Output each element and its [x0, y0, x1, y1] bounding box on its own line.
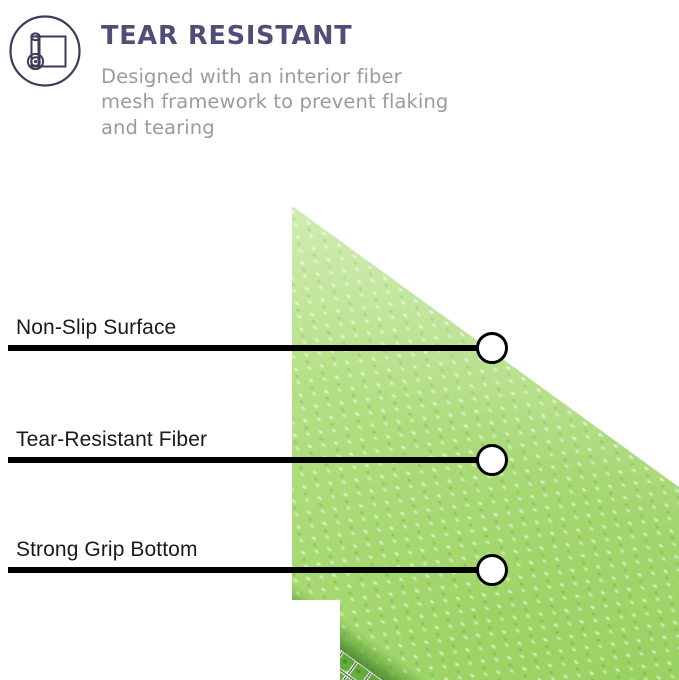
header-text-block: TEAR RESISTANT Designed with an interior… [101, 24, 521, 141]
mat-roll-icon [8, 14, 82, 88]
product-feature-infographic: TEAR RESISTANT Designed with an interior… [0, 0, 679, 680]
callout-label-strong-grip-bottom: Strong Grip Bottom [16, 538, 198, 562]
callout-dot-strong-grip-bottom [476, 554, 508, 586]
page-title: TEAR RESISTANT [101, 24, 521, 50]
header: TEAR RESISTANT Designed with an interior… [0, 0, 679, 175]
photo-mask-bottom [0, 600, 340, 680]
callout-dot-non-slip-surface [476, 332, 508, 364]
callout-label-non-slip-surface: Non-Slip Surface [16, 316, 176, 340]
page-subtitle: Designed with an interior fiber mesh fra… [101, 64, 451, 142]
callout-line-non-slip-surface [8, 345, 492, 351]
callout-line-tear-resistant-fiber [8, 457, 492, 463]
callout-dot-tear-resistant-fiber [476, 444, 508, 476]
callout-label-tear-resistant-fiber: Tear-Resistant Fiber [16, 428, 207, 452]
callout-line-strong-grip-bottom [8, 567, 492, 573]
